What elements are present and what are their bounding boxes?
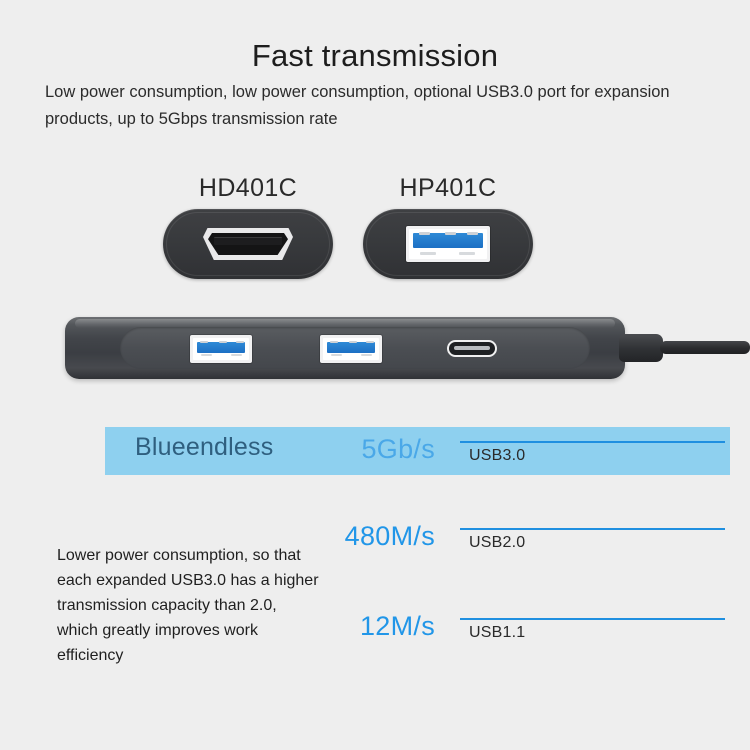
- usb-a-footer-tab: [331, 354, 342, 356]
- usb-a-port-illustration: [363, 209, 533, 279]
- usb-a-footer-tab: [361, 354, 372, 356]
- page-title: Fast transmission: [0, 38, 750, 74]
- port-label-hp401c: HP401C: [363, 174, 533, 203]
- hub-usb-c-port: [447, 340, 497, 357]
- usb-a-contact: [200, 341, 208, 343]
- rule-usb2: [460, 528, 725, 530]
- usb-a-contact: [366, 341, 374, 343]
- usb-a-footer-tab: [420, 252, 436, 255]
- page-subtitle: Low power consumption, low power consump…: [45, 79, 717, 133]
- usb-a-contact: [419, 232, 430, 235]
- usb-a-housing: [323, 338, 379, 360]
- usb-a-housing: [409, 229, 487, 259]
- speed-value-usb3: 5Gb/s: [265, 434, 435, 465]
- rule-usb1: [460, 618, 725, 620]
- usb-a-blue-insert: [197, 342, 245, 353]
- usb-c-contact: [454, 346, 490, 350]
- cable-strain-relief: [619, 334, 663, 362]
- standard-label-usb3: USB3.0: [469, 447, 525, 465]
- usb-a-footer-tab: [201, 354, 212, 356]
- body-paragraph: Lower power consumption, so that each ex…: [57, 543, 319, 668]
- usb-a-footer-tab: [459, 252, 475, 255]
- usb-a-contact: [236, 341, 244, 343]
- usb-hub-device: [65, 317, 625, 379]
- product-marketing-image: Fast transmission Low power consumption,…: [0, 0, 750, 750]
- brand-name: Blueendless: [135, 433, 273, 462]
- usb-a-contact: [445, 232, 456, 235]
- usb-a-contact: [330, 341, 338, 343]
- hub-usb-a-port-1: [190, 335, 252, 363]
- standard-label-usb1: USB1.1: [469, 624, 525, 642]
- usb-a-contact: [349, 341, 357, 343]
- usb-a-contact: [467, 232, 478, 235]
- hub-usb-a-port-2: [320, 335, 382, 363]
- usb-a-footer-tab: [231, 354, 242, 356]
- port-label-hd401c: HD401C: [163, 174, 333, 203]
- usb-a-icon: [406, 226, 490, 262]
- usb-a-blue-insert: [327, 342, 375, 353]
- hdmi-icon: [203, 228, 293, 260]
- standard-label-usb2: USB2.0: [469, 534, 525, 552]
- rule-usb3: [460, 441, 725, 443]
- device-cable: [660, 341, 750, 354]
- hdmi-port-illustration: [163, 209, 333, 279]
- usb-a-blue-insert: [413, 233, 483, 248]
- usb-a-housing: [193, 338, 249, 360]
- hdmi-tongue: [214, 237, 282, 245]
- usb-a-contact: [219, 341, 227, 343]
